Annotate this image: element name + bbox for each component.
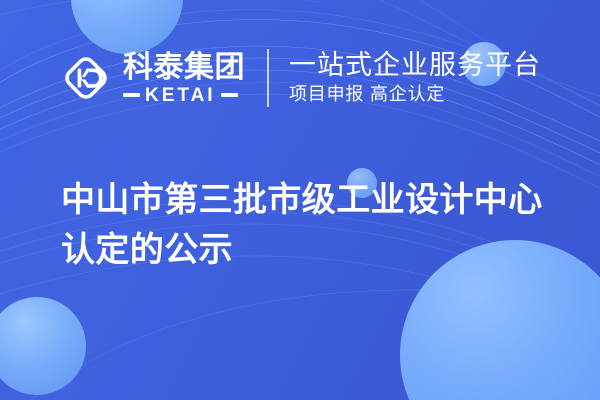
brand-wordmark: 科泰集团 KETAI — [123, 52, 245, 104]
dash-left-decoration — [123, 93, 140, 97]
slogan-primary: 一站式企业服务平台 — [289, 50, 541, 80]
brand-name-en: KETAI — [145, 86, 216, 105]
brand-name-en-row: KETAI — [123, 86, 245, 105]
brand-logo: 科泰集团 KETAI — [58, 50, 245, 106]
banner-header: 科泰集团 KETAI 一站式企业服务平台 项目申报 高企认定 — [0, 40, 600, 116]
ketai-diamond-kd-monogram-icon — [58, 50, 114, 106]
page-title: 中山市第三批市级工业设计中心认定的公示 — [61, 175, 561, 275]
dash-right-decoration — [221, 93, 238, 97]
announcement-banner: 科泰集团 KETAI 一站式企业服务平台 项目申报 高企认定 中山市第三批市级工… — [0, 0, 600, 400]
slogan-block: 一站式企业服务平台 项目申报 高企认定 — [289, 50, 541, 106]
header-divider — [267, 49, 269, 107]
slogan-secondary: 项目申报 高企认定 — [289, 83, 541, 106]
brand-name-cn: 科泰集团 — [123, 52, 245, 83]
decorative-circle-bottom-left — [0, 297, 86, 395]
